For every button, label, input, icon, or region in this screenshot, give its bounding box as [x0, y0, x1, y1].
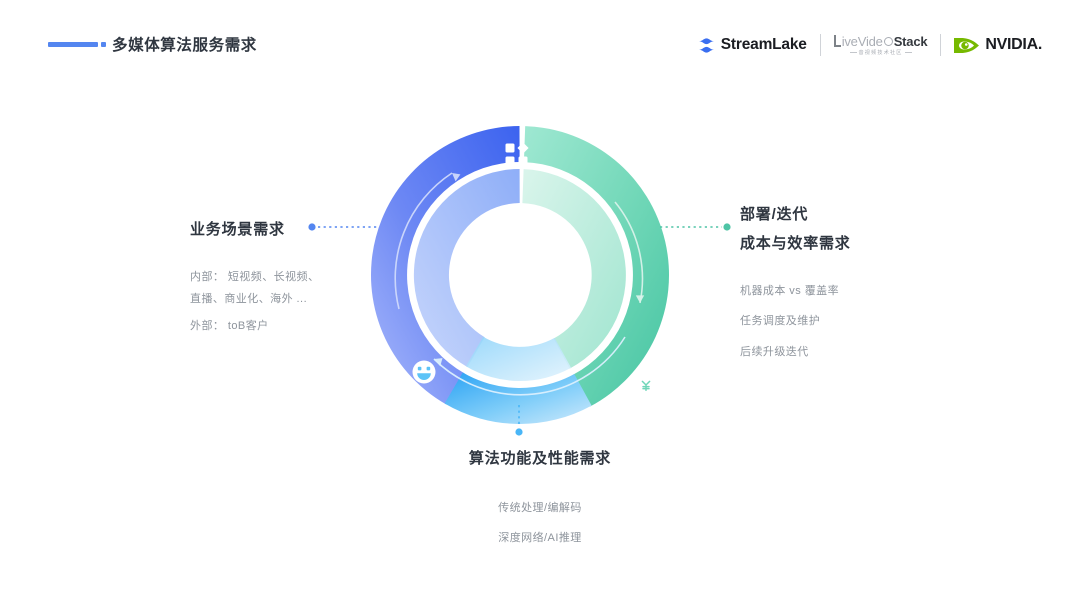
business-scenario-title: 业务场景需求: [190, 215, 319, 244]
label-block-deployment-cost: 部署/迭代 成本与效率需求 机器成本 vs 覆盖率 任务调度及维护 后续升级迭代: [740, 200, 851, 362]
deployment-cost-details: 机器成本 vs 覆盖率 任务调度及维护 后续升级迭代: [740, 282, 851, 363]
business-scenario-details: 内部： 短视频、长视频、 直播、商业化、海外 ... 外部： toB客户: [190, 268, 319, 337]
algorithm-performance-line-1: 传统处理/编解码: [0, 499, 1080, 519]
connector-dot-bottom: [515, 428, 522, 435]
deployment-cost-title-line1: 部署/迭代: [740, 200, 851, 229]
label-block-business-scenario: 业务场景需求 内部： 短视频、长视频、 直播、商业化、海外 ... 外部： to…: [190, 215, 319, 337]
algorithm-performance-title: 算法功能及性能需求: [0, 444, 1080, 473]
business-scenario-line-2: 直播、商业化、海外 ...: [190, 290, 319, 310]
connector-dot-right: [723, 223, 730, 230]
algorithm-performance-details: 传统处理/编解码 深度网络/AI推理: [0, 499, 1080, 548]
deployment-cost-title-line2: 成本与效率需求: [740, 229, 851, 258]
deployment-cost-line-3: 后续升级迭代: [740, 343, 851, 363]
business-scenario-line-1: 内部： 短视频、长视频、: [190, 268, 319, 288]
deployment-cost-line-2: 任务调度及维护: [740, 312, 851, 332]
label-block-algorithm-performance: 算法功能及性能需求 传统处理/编解码 深度网络/AI推理: [0, 444, 1080, 548]
deployment-cost-line-1: 机器成本 vs 覆盖率: [740, 282, 851, 302]
algorithm-performance-line-2: 深度网络/AI推理: [0, 529, 1080, 549]
business-scenario-line-3: 外部： toB客户: [190, 317, 319, 337]
